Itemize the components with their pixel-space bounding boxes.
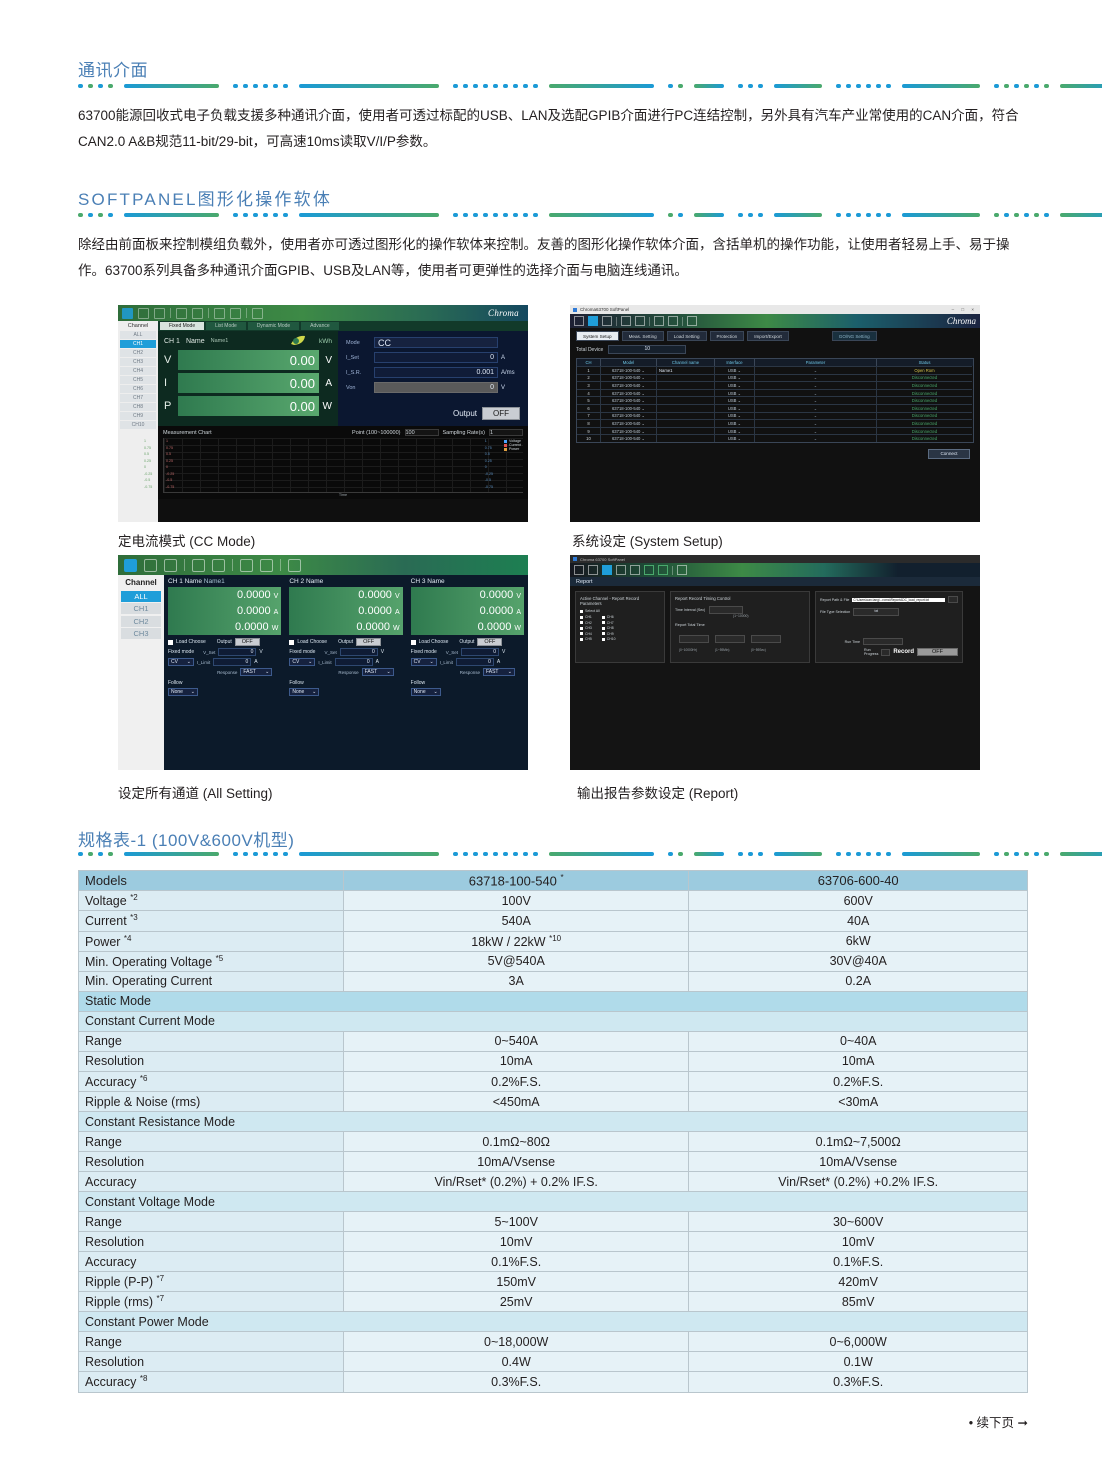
rule-dot <box>253 84 258 88</box>
setup-toolbar[interactable]: Chroma <box>570 314 980 328</box>
softpanel-cc-window: Chroma Channel ALL CH1 CH2 CH3 CH4 CH5 C… <box>118 305 528 522</box>
fixed-mode-row: Fixed modeV_Set0V <box>168 648 281 656</box>
channel-checkbox[interactable] <box>602 638 605 641</box>
cc-settings-panel: Mode CC I_Set 0 A I_S.R. 0. <box>338 331 528 426</box>
report-channel-grid: CH1CH2CH3CH4CH5CH6CH7CH8CH9CH10 <box>580 615 660 643</box>
rule-dot <box>463 852 468 856</box>
follow-label: Follow <box>168 680 281 686</box>
cell-parameter[interactable]: ⌄ <box>755 366 877 374</box>
response-select[interactable]: FAST⌄ <box>240 668 272 676</box>
report-channel-checkbox-row[interactable]: CH1 <box>580 615 592 619</box>
spec-value-model-1: 0.2%F.S. <box>344 1071 689 1091</box>
report-path-input[interactable]: C:\Users\can.tang\...roma\ReportADC_load… <box>852 598 945 602</box>
spec-value-model-2: 0.1mΩ~7,500Ω <box>689 1132 1028 1152</box>
report-channel-checkbox-row[interactable]: CH5 <box>580 637 592 641</box>
cc-toolbar[interactable]: Chroma <box>118 305 528 321</box>
rule-dot <box>513 213 518 217</box>
setup-tabbar[interactable]: System Setup Meas. Setting Load Setting … <box>570 328 980 341</box>
device-table-row[interactable]: 663718-100-540 ⌄USB ⌄⌄Disconnected <box>577 404 973 412</box>
rule-dot <box>523 84 528 88</box>
rule-dot <box>856 84 861 88</box>
cc-channel-item[interactable]: ALL <box>120 331 156 339</box>
folder-icon[interactable] <box>658 565 668 575</box>
rule-dot <box>1044 84 1049 88</box>
allset-channel-item-ch1[interactable]: CH1 <box>121 603 161 614</box>
rule-dot <box>678 84 683 88</box>
response-row: ResponseFAST⌄ <box>289 668 402 676</box>
rule-dot <box>758 213 763 217</box>
sound-icon[interactable] <box>144 559 157 572</box>
channel-checkbox[interactable] <box>602 632 605 635</box>
tab-advance[interactable]: Advance <box>301 322 338 330</box>
rule-dot <box>866 84 871 88</box>
cc-channel-item[interactable]: CH2 <box>120 349 156 357</box>
fixed-mode-row: Fixed modeV_Set0V <box>289 648 402 656</box>
rule-dot <box>533 84 538 88</box>
ilimit-input[interactable]: 0 <box>335 658 373 666</box>
cell-model[interactable]: 63718-100-540 ⌄ <box>601 434 657 442</box>
section-heading-spec: 规格表-1 (100V&600V机型) <box>78 826 294 851</box>
cell-name <box>657 427 715 435</box>
cell-model[interactable]: 63718-100-540 ⌄ <box>601 404 657 412</box>
folder-icon[interactable] <box>668 316 678 326</box>
load-choose-label: Load Choose <box>419 639 449 645</box>
isr-input[interactable]: 0.001 <box>374 367 498 378</box>
spec-row-label: Ripple & Noise (rms) <box>79 1092 344 1112</box>
spec-value-model-2: 63706-600-40 <box>689 871 1028 891</box>
device-table-row[interactable]: 363718-100-540 ⌄USB ⌄⌄Disconnected <box>577 381 973 389</box>
cell-parameter[interactable]: ⌄ <box>755 404 877 412</box>
report-channel-checkbox-row[interactable]: CH10 <box>602 637 616 641</box>
spec-row-label: Accuracy <box>79 1252 344 1272</box>
cc-readout-unit: A <box>319 378 332 389</box>
cell-name <box>657 412 715 420</box>
cell-name <box>657 389 715 397</box>
rule-dot <box>463 213 468 217</box>
chart-title: Measurement Chart <box>163 430 212 436</box>
cell-status: Disconnected <box>877 381 972 389</box>
device-table-row[interactable]: 263718-100-540 ⌄USB ⌄⌄Disconnected <box>577 374 973 382</box>
report-icon[interactable] <box>176 308 187 319</box>
sampling-input[interactable]: 1 <box>489 429 523 436</box>
home-icon[interactable] <box>574 565 584 575</box>
col-interface: Interface <box>715 359 755 366</box>
total-time-minutes[interactable] <box>715 635 745 643</box>
channel-checkbox[interactable] <box>602 616 605 619</box>
cell-ch: 8 <box>577 419 601 427</box>
network-icon[interactable] <box>164 559 177 572</box>
rule-dot <box>253 213 258 217</box>
channel-checkbox[interactable] <box>580 616 583 619</box>
rule-dot <box>1034 84 1039 88</box>
cell-interface[interactable]: USB ⌄ <box>715 389 755 397</box>
report-icon[interactable] <box>621 316 631 326</box>
allset-toolbar[interactable] <box>118 555 528 575</box>
tab-fixed-mode[interactable]: Fixed Mode <box>160 322 204 330</box>
total-device-label: Total Device <box>576 347 603 353</box>
info-icon[interactable] <box>630 565 640 575</box>
cell-interface[interactable]: USB ⌄ <box>715 381 755 389</box>
spec-value-model-2: 85mV <box>689 1292 1028 1312</box>
spec-value-model-1: 0~18,000W <box>344 1332 689 1352</box>
channel-checkbox[interactable] <box>580 621 583 624</box>
rule-dot <box>483 84 488 88</box>
device-table-row[interactable]: 163718-100-540 ⌄Name1USB ⌄⌄Open Rom <box>577 366 973 374</box>
rule-dot <box>668 852 673 856</box>
report-channel-checkbox-row[interactable]: CH9 <box>602 632 616 636</box>
col-model: Model <box>601 359 657 366</box>
ilimit-label: I_Limit <box>318 660 331 665</box>
response-select[interactable]: FAST⌄ <box>362 668 394 676</box>
save-icon[interactable] <box>654 316 664 326</box>
allset-channel-item-ch2[interactable]: CH2 <box>121 616 161 627</box>
cell-model[interactable]: 63718-100-540 ⌄ <box>601 381 657 389</box>
cell-interface[interactable]: USB ⌄ <box>715 396 755 404</box>
cc-setting-iset: I_Set 0 A <box>346 352 520 363</box>
cell-interface[interactable]: USB ⌄ <box>715 366 755 374</box>
cell-ch: 5 <box>577 396 601 404</box>
cell-interface[interactable]: USB ⌄ <box>715 374 755 382</box>
chroma-logo: Chroma <box>947 316 976 326</box>
decorative-rule-1 <box>78 84 1028 88</box>
vset-input[interactable]: 0 <box>218 648 256 656</box>
report-channel-checkbox-row[interactable]: CH2 <box>580 621 592 625</box>
mode-select[interactable]: CV⌄ <box>168 658 194 666</box>
cc-channel-item[interactable]: CH4 <box>120 367 156 375</box>
cell-parameter[interactable]: ⌄ <box>755 412 877 420</box>
tab-load-setting[interactable]: Load Setting <box>667 331 707 341</box>
cc-channel-item[interactable]: CH9 <box>120 412 156 420</box>
exit-icon[interactable] <box>677 565 687 575</box>
cc-readout-unit: W <box>319 401 332 412</box>
rule-dot <box>1014 213 1019 217</box>
tab-meas-setting[interactable]: Meas. Setting <box>622 331 664 341</box>
time-interval-spinner[interactable] <box>709 606 743 614</box>
toolbar-separator <box>672 566 673 575</box>
report-window-titlebar: Chroma 63700 SoftPanel <box>570 555 980 563</box>
spec-table-row: Accuracy *80.3%F.S.0.3%F.S. <box>79 1372 1028 1392</box>
info-icon[interactable] <box>635 316 645 326</box>
output-toggle-button[interactable]: OFF <box>482 407 520 420</box>
browse-folder-icon[interactable] <box>948 596 958 603</box>
cc-setting-label: I_Set <box>346 355 374 361</box>
connect-button[interactable]: Connect <box>928 449 970 459</box>
mode-select[interactable]: CV⌄ <box>289 658 315 666</box>
cc-channel-item[interactable]: CH6 <box>120 385 156 393</box>
rule-dot <box>1044 852 1049 856</box>
tab-dynamic-mode[interactable]: Dynamic Mode <box>248 322 299 330</box>
device-table-header: CH Model Channel name Interface Paramete… <box>577 359 973 366</box>
save-icon[interactable] <box>240 559 253 572</box>
cc-channel-item[interactable]: CH8 <box>120 403 156 411</box>
cell-parameter[interactable]: ⌄ <box>755 427 877 435</box>
channel-checkbox[interactable] <box>580 632 583 635</box>
allset-channel-column: CH 3 Name 0.0000 V0.0000 A0.0000 WLoad C… <box>407 575 528 770</box>
cell-model[interactable]: 63718-100-540 ⌄ <box>601 396 657 404</box>
rule-dot <box>1024 852 1029 856</box>
report-channel-checkbox-row[interactable]: CH4 <box>580 632 592 636</box>
load-choose-checkbox[interactable] <box>168 640 173 645</box>
rule-dot <box>846 84 851 88</box>
network-icon[interactable] <box>602 565 612 575</box>
tab-protection[interactable]: Protection <box>710 331 745 341</box>
spec-value-model-1: 0~540A <box>344 1031 689 1051</box>
screenshot-system-setup: Chroma63700 SoftPanel – □ × Chroma Syste… <box>570 305 980 522</box>
rule-dot <box>866 213 871 217</box>
cell-model[interactable]: 63718-100-540 ⌄ <box>601 412 657 420</box>
cell-interface[interactable]: USB ⌄ <box>715 427 755 435</box>
cell-ch: 1 <box>577 366 601 374</box>
chroma-logo: Chroma <box>488 308 524 318</box>
spec-value-model-2: 6kW <box>689 931 1028 951</box>
rule-dot <box>513 84 518 88</box>
report-tab[interactable]: Report <box>570 577 980 586</box>
ilimit-unit: A <box>254 659 257 665</box>
device-table-row[interactable]: 563718-100-540 ⌄USB ⌄⌄Disconnected <box>577 396 973 404</box>
report-channel-checkbox-row[interactable]: CH7 <box>602 621 616 625</box>
cc-readout-label: P <box>164 400 178 412</box>
folder-icon[interactable] <box>230 308 241 319</box>
cell-parameter[interactable]: ⌄ <box>755 419 877 427</box>
von-input[interactable]: 0 <box>374 382 498 393</box>
cc-channel-item[interactable]: CH3 <box>120 358 156 366</box>
report-channel-checkbox-row[interactable]: CH6 <box>602 615 616 619</box>
caption-system-setup: 系统设定 (System Setup) <box>572 530 723 550</box>
spec-table-row: Min. Operating Voltage *55V@540A30V@40A <box>79 951 1028 971</box>
cell-parameter[interactable]: ⌄ <box>755 381 877 389</box>
fixed-mode-label: Fixed mode <box>411 649 437 655</box>
vset-input[interactable]: 0 <box>461 648 499 656</box>
chart-xaxis-label: Time <box>163 493 523 497</box>
spec-section-label: Constant Current Mode <box>79 1011 1028 1031</box>
cc-kwh-label: kWh <box>319 338 332 345</box>
rule-dot <box>273 852 278 856</box>
spec-table-row: AccuracyVin/Rset* (0.2%) + 0.2% IF.S.Vin… <box>79 1172 1028 1192</box>
follow-select[interactable]: None⌄ <box>289 688 319 696</box>
tab-system-setup[interactable]: System Setup <box>576 331 619 341</box>
cc-channel-item[interactable]: CH7 <box>120 394 156 402</box>
spec-value-model-2: 0.3%F.S. <box>689 1372 1028 1392</box>
network-icon[interactable] <box>602 316 612 326</box>
report-channel-checkbox-row[interactable]: CH3 <box>580 626 592 630</box>
report-channel-checkbox-row[interactable]: CH8 <box>602 626 616 630</box>
mode-select[interactable]: CV⌄ <box>411 658 437 666</box>
response-select[interactable]: FAST⌄ <box>483 668 515 676</box>
cell-name <box>657 434 715 442</box>
report-icon[interactable] <box>192 559 205 572</box>
output-toggle-button[interactable]: OFF <box>235 638 260 646</box>
channel-checkbox[interactable] <box>602 621 605 624</box>
cell-status: Disconnected <box>877 419 972 427</box>
rule-dot <box>98 852 103 856</box>
output-toggle-button[interactable]: OFF <box>356 638 381 646</box>
tab-list-mode[interactable]: List Mode <box>206 322 246 330</box>
spec-section-label: Constant Voltage Mode <box>79 1192 1028 1212</box>
tab-import-export[interactable]: Import/Export <box>747 331 789 341</box>
select-all-checkbox[interactable] <box>580 610 583 613</box>
device-table-row[interactable]: 963718-100-540 ⌄USB ⌄⌄Disconnected <box>577 427 973 435</box>
home-icon[interactable] <box>122 308 133 319</box>
cell-model[interactable]: 63718-100-540 ⌄ <box>601 389 657 397</box>
spec-value-model-1: 10mA <box>344 1051 689 1071</box>
spec-section-label: Static Mode <box>79 991 1028 1011</box>
spec-row-label: Power *4 <box>79 931 344 951</box>
cell-model[interactable]: 63718-100-540 ⌄ <box>601 374 657 382</box>
cc-readout-value: 0.00 <box>178 373 319 393</box>
vset-unit: V <box>502 649 505 655</box>
response-label: Response <box>338 670 358 675</box>
rule-dash <box>124 213 219 217</box>
follow-select[interactable]: None⌄ <box>411 688 441 696</box>
rule-dash <box>902 84 980 88</box>
point-label: Point (100~100000) <box>352 430 400 436</box>
device-table-row[interactable]: 1063718-100-540 ⌄USB ⌄⌄Disconnected <box>577 434 973 442</box>
rule-dot <box>503 84 508 88</box>
exit-icon[interactable] <box>252 308 263 319</box>
cell-parameter[interactable]: ⌄ <box>755 389 877 397</box>
record-toggle-button[interactable]: OFF <box>917 648 958 656</box>
cc-ch-label: CH 1 <box>164 338 180 345</box>
save-icon[interactable] <box>214 308 225 319</box>
select-all-label: Select All <box>585 609 600 613</box>
mode-row: CV⌄I_Limit0A <box>411 658 524 666</box>
allset-channel-item-all[interactable]: ALL <box>121 591 161 602</box>
cell-parameter[interactable]: ⌄ <box>755 374 877 382</box>
output-toggle-button[interactable]: OFF <box>477 638 502 646</box>
run-time-label: Run Time <box>845 640 860 644</box>
save-icon[interactable] <box>644 565 654 575</box>
spec-value-model-1: 100V <box>344 891 689 911</box>
device-table: CH Model Channel name Interface Paramete… <box>576 358 974 443</box>
folder-icon[interactable] <box>260 559 273 572</box>
home-icon[interactable] <box>124 559 137 572</box>
file-type-select[interactable]: txt <box>853 608 899 616</box>
sound-icon[interactable] <box>588 565 598 575</box>
device-table-row[interactable]: 763718-100-540 ⌄USB ⌄⌄Disconnected <box>577 412 973 420</box>
follow-select[interactable]: None⌄ <box>168 688 198 696</box>
rule-dot <box>533 852 538 856</box>
allset-channel-item-ch3[interactable]: CH3 <box>121 628 161 639</box>
channel-checkbox[interactable] <box>580 627 583 630</box>
cc-readout-label: I <box>164 377 178 389</box>
spec-table-row: Ripple & Noise (rms)<450mA<30mA <box>79 1092 1028 1112</box>
follow-block: FollowNone⌄ <box>168 680 281 696</box>
total-time-min-range: (1~59Min) <box>715 648 745 652</box>
total-device-select[interactable]: 10 <box>608 345 686 354</box>
rule-dot <box>243 213 248 217</box>
device-table-row[interactable]: 463718-100-540 ⌄USB ⌄⌄Disconnected <box>577 389 973 397</box>
cell-name <box>657 396 715 404</box>
spec-table-row: Constant Resistance Mode <box>79 1112 1028 1132</box>
spec-value-model-2: 0.2%F.S. <box>689 1071 1028 1091</box>
report-toolbar[interactable] <box>570 563 980 577</box>
cell-status: Disconnected <box>877 374 972 382</box>
rule-dot <box>738 84 743 88</box>
vset-input[interactable]: 0 <box>340 648 378 656</box>
rule-dot <box>523 852 528 856</box>
info-icon[interactable] <box>212 559 225 572</box>
device-table-row[interactable]: 863718-100-540 ⌄USB ⌄⌄Disconnected <box>577 419 973 427</box>
load-choose-checkbox[interactable] <box>289 640 294 645</box>
cell-interface[interactable]: USB ⌄ <box>715 419 755 427</box>
cell-interface[interactable]: USB ⌄ <box>715 412 755 420</box>
iset-input[interactable]: 0 <box>374 352 498 363</box>
total-time-seconds[interactable] <box>751 635 781 643</box>
toolbar-separator <box>232 559 233 571</box>
rule-dash <box>774 84 822 88</box>
cc-setting-unit: V <box>498 385 520 391</box>
rule-dot <box>994 213 999 217</box>
rule-dot <box>283 213 288 217</box>
cc-channel-item[interactable]: CH10 <box>120 421 156 429</box>
tab-gong-setting[interactable]: GO/NG Setting <box>832 331 877 341</box>
spec-row-label: Accuracy *8 <box>79 1372 344 1392</box>
sound-icon[interactable] <box>588 316 598 326</box>
rule-dot <box>283 84 288 88</box>
cell-parameter[interactable]: ⌄ <box>755 396 877 404</box>
cc-setting-isr: I_S.R. 0.001 A/ms <box>346 367 520 378</box>
allset-power-readout: 0.0000 W <box>411 619 524 635</box>
ilimit-input[interactable]: 0 <box>213 658 251 666</box>
cell-parameter[interactable]: ⌄ <box>755 434 877 442</box>
output-label: Output <box>453 409 477 418</box>
cc-tabbar[interactable]: Fixed Mode List Mode Dynamic Mode Advanc… <box>158 321 528 331</box>
spec-value-model-2: 10mA/Vsense <box>689 1152 1028 1172</box>
cell-status: Disconnected <box>877 396 972 404</box>
rule-dot <box>748 84 753 88</box>
caption-report: 输出报告参数设定 (Report) <box>577 782 738 802</box>
spec-value-model-1: Vin/Rset* (0.2%) + 0.2% IF.S. <box>344 1172 689 1192</box>
cell-model[interactable]: 63718-100-540 ⌄ <box>601 427 657 435</box>
cell-model[interactable]: 63718-100-540 ⌄ <box>601 419 657 427</box>
report-icon[interactable] <box>616 565 626 575</box>
exit-icon[interactable] <box>687 316 697 326</box>
cell-model[interactable]: 63718-100-540 ⌄ <box>601 366 657 374</box>
home-icon[interactable] <box>574 316 584 326</box>
load-choose-checkbox[interactable] <box>411 640 416 645</box>
total-time-hours[interactable] <box>679 635 709 643</box>
paragraph-communication: 63700能源回收式电子负载支援多种通讯介面，使用者可透过标配的USB、LAN及… <box>78 103 1033 155</box>
spec-table-row: Constant Power Mode <box>79 1312 1028 1332</box>
spec-table-row: Range0.1mΩ~80Ω0.1mΩ~7,500Ω <box>79 1132 1028 1152</box>
cell-interface[interactable]: USB ⌄ <box>715 434 755 442</box>
channel-checkbox[interactable] <box>580 638 583 641</box>
total-time-sec-range: (0~59Sec) <box>751 648 781 652</box>
cell-interface[interactable]: USB ⌄ <box>715 404 755 412</box>
ilimit-input[interactable]: 0 <box>456 658 494 666</box>
ilimit-label: I_Limit <box>440 660 453 665</box>
exit-icon[interactable] <box>288 559 301 572</box>
point-input[interactable]: 100 <box>405 429 439 436</box>
info-icon[interactable] <box>192 308 203 319</box>
cc-channel-item-selected[interactable]: CH1 <box>120 340 156 348</box>
network-icon[interactable] <box>154 308 165 319</box>
rule-dash <box>299 213 439 217</box>
sound-icon[interactable] <box>138 308 149 319</box>
rule-dash <box>694 84 724 88</box>
channel-checkbox[interactable] <box>602 627 605 630</box>
spec-value-model-1: 540A <box>344 911 689 931</box>
cc-setting-unit: A/ms <box>498 370 520 376</box>
rule-dot <box>78 852 83 856</box>
allset-power-readout: 0.0000 W <box>289 619 402 635</box>
spec-value-model-2: Vin/Rset* (0.2%) +0.2% IF.S. <box>689 1172 1028 1192</box>
mode-select[interactable]: CC <box>374 337 498 348</box>
spec-table-row: Accuracy *60.2%F.S.0.2%F.S. <box>79 1071 1028 1091</box>
window-controls[interactable]: – □ × <box>952 307 977 312</box>
report-path-panel: Report Path & File C:\Users\can.tang\...… <box>815 591 963 663</box>
cc-channel-item[interactable]: CH5 <box>120 376 156 384</box>
